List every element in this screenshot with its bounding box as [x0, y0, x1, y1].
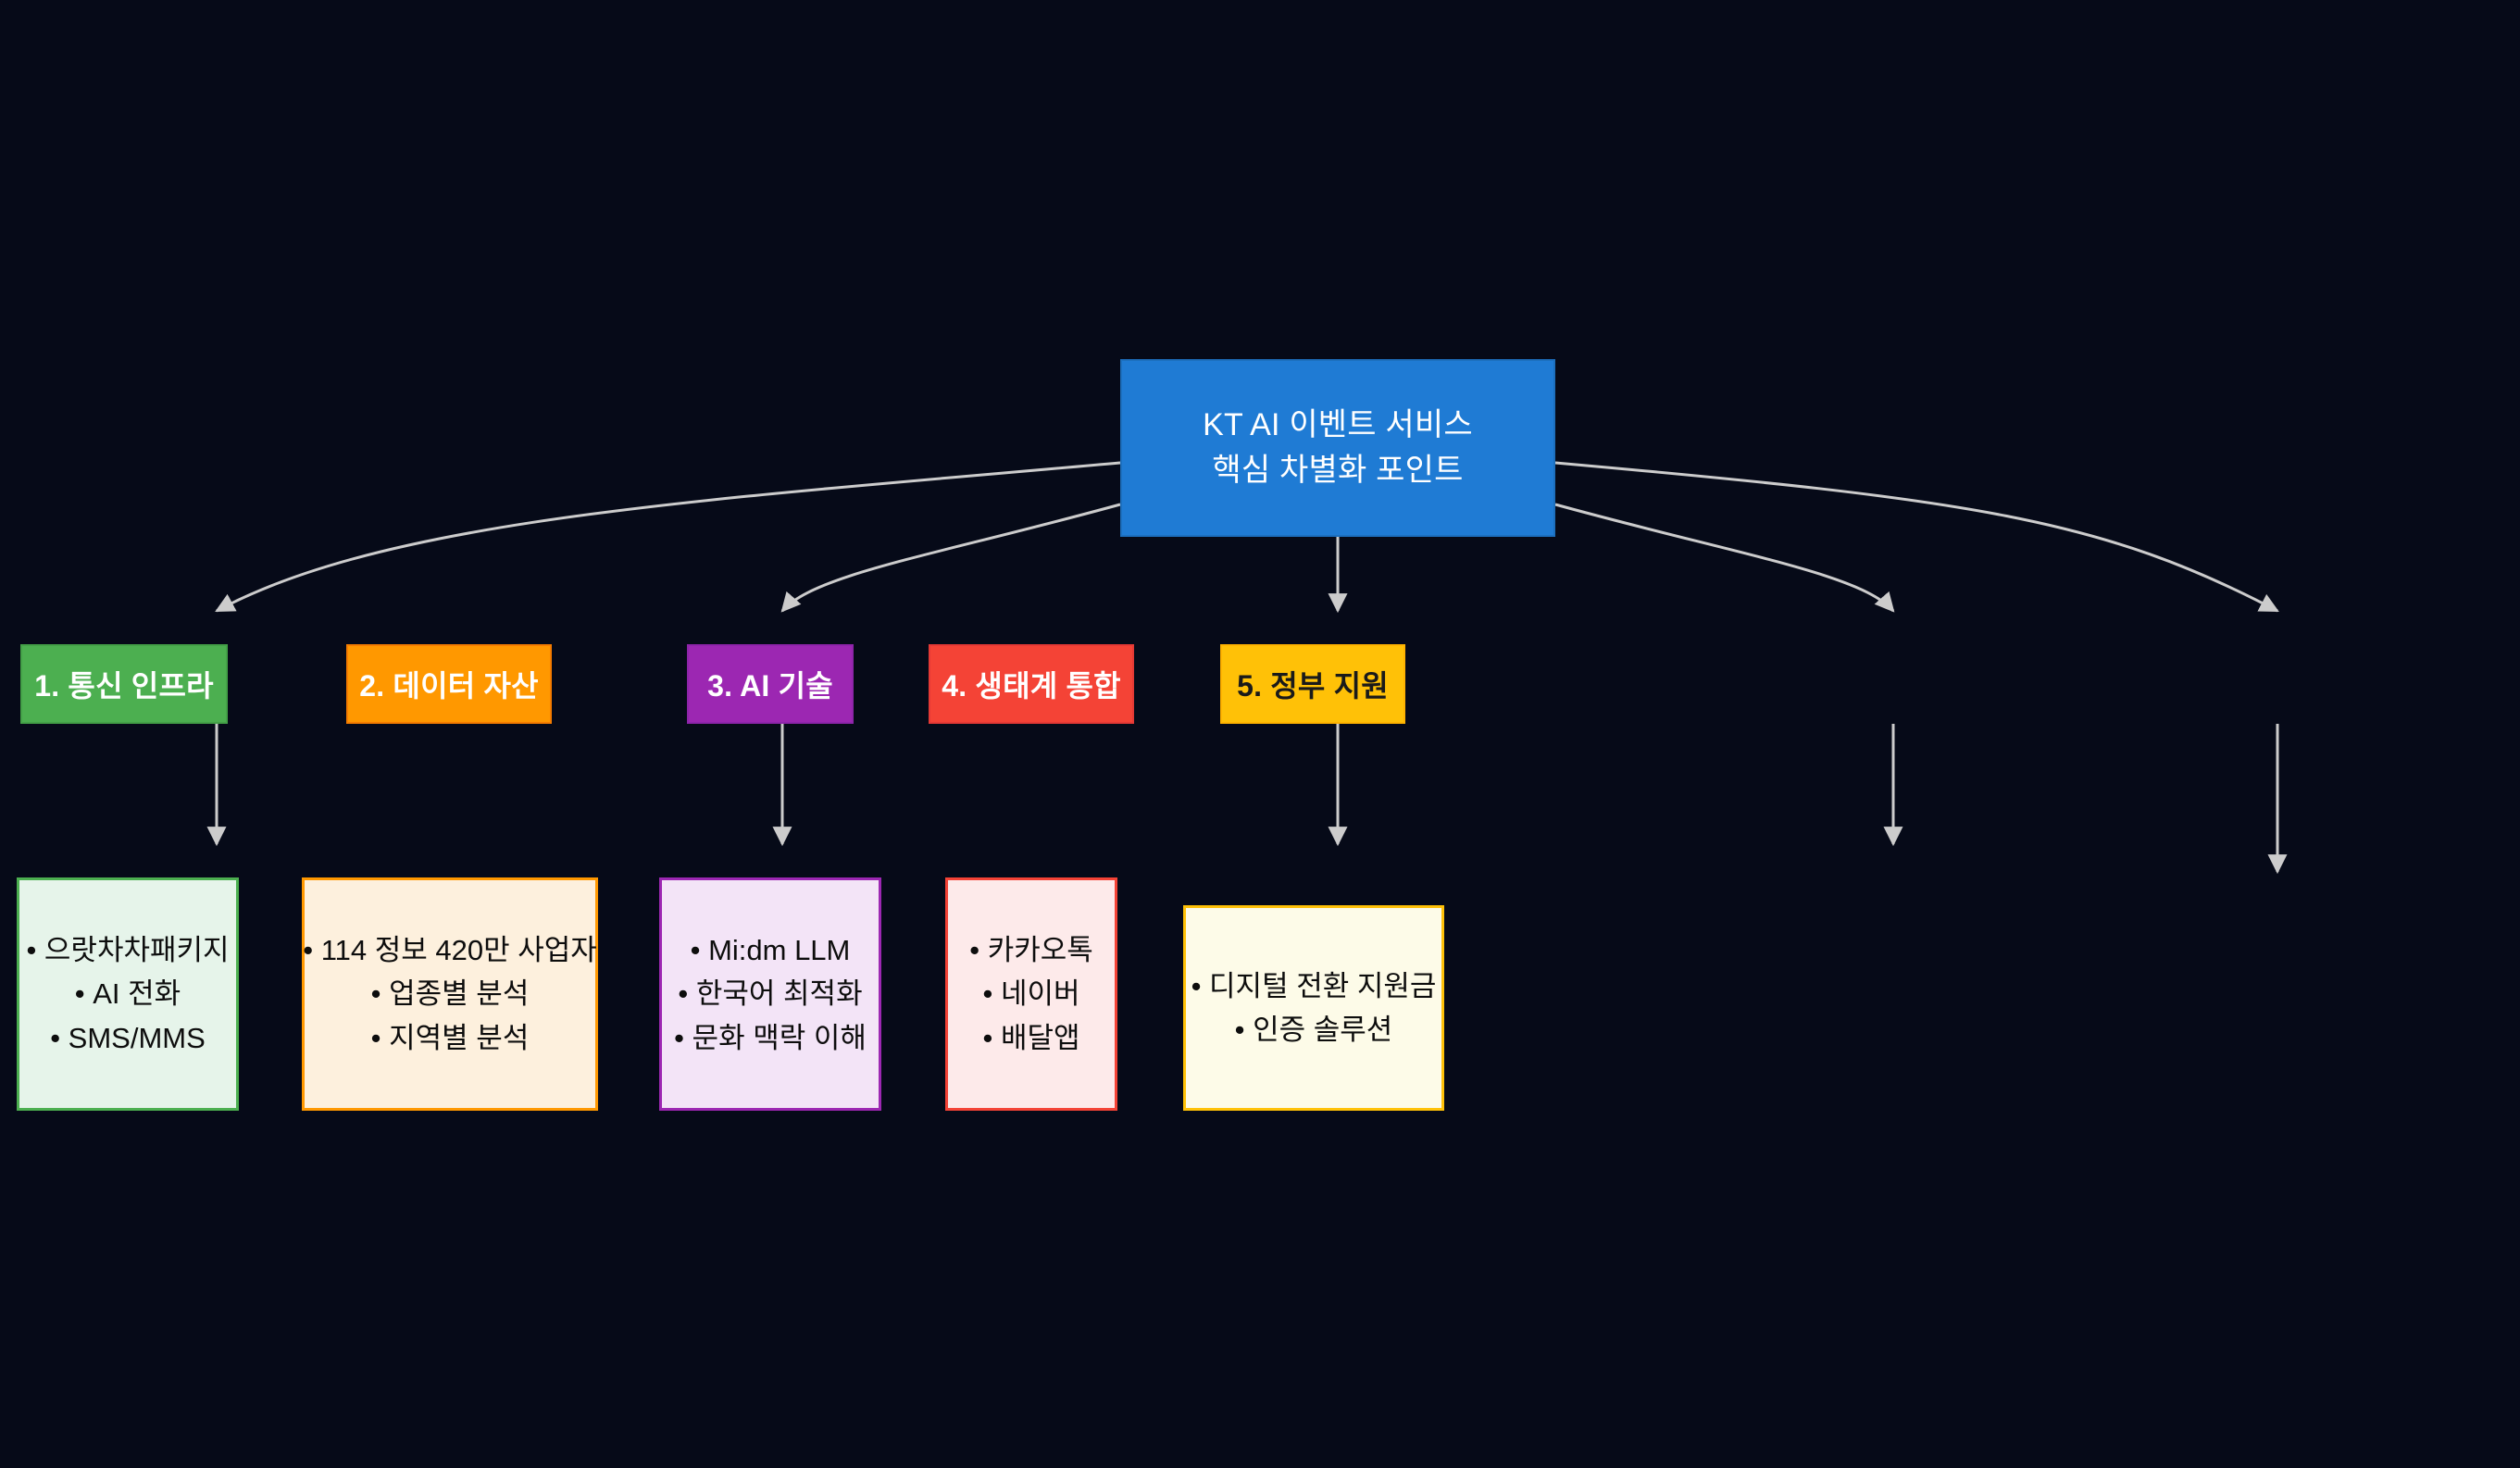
detail-item: Mi:dm LLM	[674, 928, 867, 972]
root-node[interactable]: KT AI 이벤트 서비스 핵심 차별화 포인트	[1120, 359, 1555, 537]
category-node-2[interactable]: 2. 데이터 자산	[346, 644, 552, 724]
category-node-5[interactable]: 5. 정부 지원	[1220, 644, 1405, 724]
detail-item: 한국어 최적화	[674, 972, 867, 1015]
root-node-line-1: KT AI 이벤트 서비스	[1203, 403, 1473, 448]
edge-layer	[0, 0, 2520, 1468]
category-node-3-label: 3. AI 기술	[707, 663, 833, 705]
edge-root-to-cat-1	[217, 463, 1120, 611]
detail-item: 지역별 분석	[303, 1016, 597, 1060]
category-node-1[interactable]: 1. 통신 인프라	[20, 644, 228, 724]
category-node-3[interactable]: 3. AI 기술	[687, 644, 854, 724]
edge-root-to-cat-2	[782, 504, 1120, 611]
detail-node-1[interactable]: 으랏차차패키지AI 전화SMS/MMS	[17, 877, 239, 1111]
category-node-4[interactable]: 4. 생태계 통합	[929, 644, 1134, 724]
edge-root-to-cat-5	[1555, 463, 2277, 611]
detail-item: 배달앱	[969, 1016, 1093, 1060]
detail-item: 디지털 전환 지원금	[1191, 964, 1437, 1008]
detail-item: 업종별 분석	[303, 972, 597, 1015]
category-node-5-label: 5. 정부 지원	[1237, 663, 1389, 705]
detail-node-5[interactable]: 디지털 전환 지원금인증 솔루션	[1183, 905, 1444, 1111]
root-node-line-2: 핵심 차별화 포인트	[1203, 448, 1473, 493]
detail-item: SMS/MMS	[26, 1016, 229, 1060]
detail-item: AI 전화	[26, 972, 229, 1015]
detail-list-3: Mi:dm LLM한국어 최적화문화 맥락 이해	[674, 928, 867, 1059]
detail-node-2[interactable]: 114 정보 420만 사업자업종별 분석지역별 분석	[302, 877, 598, 1111]
category-node-1-label: 1. 통신 인프라	[34, 663, 213, 705]
detail-item: 114 정보 420만 사업자	[303, 928, 597, 972]
detail-item: 문화 맥락 이해	[674, 1016, 867, 1060]
detail-list-4: 카카오톡네이버배달앱	[969, 928, 1093, 1059]
category-node-2-label: 2. 데이터 자산	[359, 663, 538, 705]
detail-list-2: 114 정보 420만 사업자업종별 분석지역별 분석	[303, 928, 597, 1059]
category-node-4-label: 4. 생태계 통합	[942, 663, 1120, 705]
detail-item: 네이버	[969, 972, 1093, 1015]
detail-list-1: 으랏차차패키지AI 전화SMS/MMS	[26, 928, 229, 1059]
diagram-canvas: KT AI 이벤트 서비스 핵심 차별화 포인트 1. 통신 인프라 2. 데이…	[0, 0, 2520, 1468]
edge-root-to-cat-4	[1555, 504, 1893, 611]
detail-item: 인증 솔루션	[1191, 1008, 1437, 1051]
detail-item: 카카오톡	[969, 928, 1093, 972]
detail-node-3[interactable]: Mi:dm LLM한국어 최적화문화 맥락 이해	[659, 877, 881, 1111]
detail-list-5: 디지털 전환 지원금인증 솔루션	[1191, 964, 1437, 1051]
detail-item: 으랏차차패키지	[26, 928, 229, 972]
detail-node-4[interactable]: 카카오톡네이버배달앱	[945, 877, 1117, 1111]
